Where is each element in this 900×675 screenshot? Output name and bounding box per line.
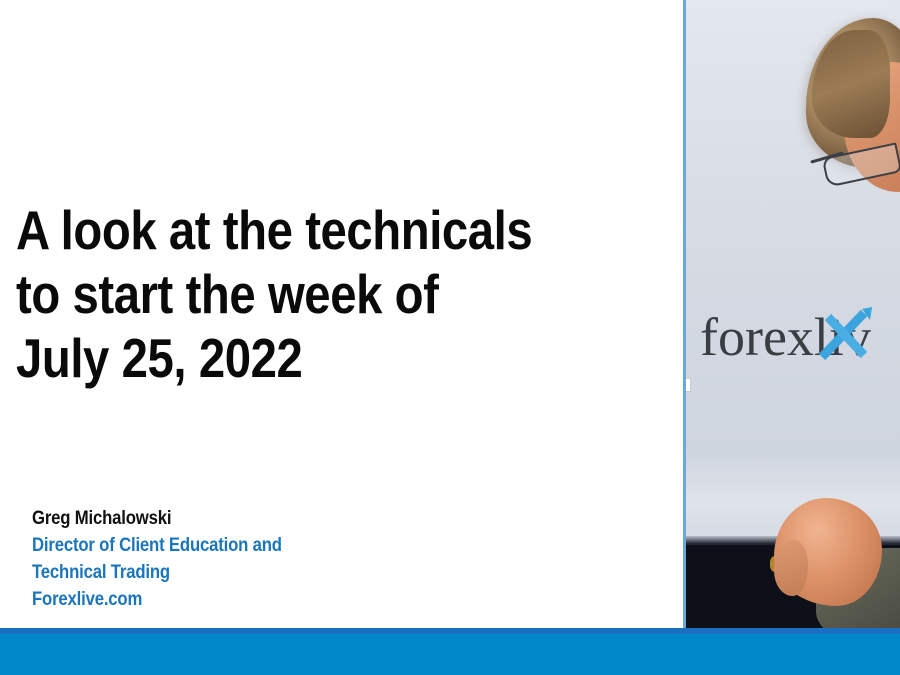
byline: Greg Michalowski Director of Client Educ… <box>32 505 452 613</box>
forexlive-logo: forexliv <box>700 305 900 369</box>
byline-role-line-2: Technical Trading <box>32 559 402 586</box>
speaker-photo-panel[interactable]: forexliv <box>683 0 900 628</box>
byline-presenter-name: Greg Michalowski <box>32 505 402 532</box>
byline-website: Forexlive.com <box>32 586 402 613</box>
slide-text-column: A look at the technicals to start the we… <box>0 0 683 628</box>
speaker-thumb <box>774 540 808 596</box>
byline-role-line-1: Director of Client Education and <box>32 532 402 559</box>
footer-bar <box>0 628 900 675</box>
presentation-slide: A look at the technicals to start the we… <box>0 0 900 675</box>
panel-resize-handle[interactable] <box>683 378 691 392</box>
footer-bar-body <box>0 634 900 675</box>
page-title: A look at the technicals to start the we… <box>16 198 541 390</box>
forexlive-arrow-x-icon <box>818 305 876 365</box>
